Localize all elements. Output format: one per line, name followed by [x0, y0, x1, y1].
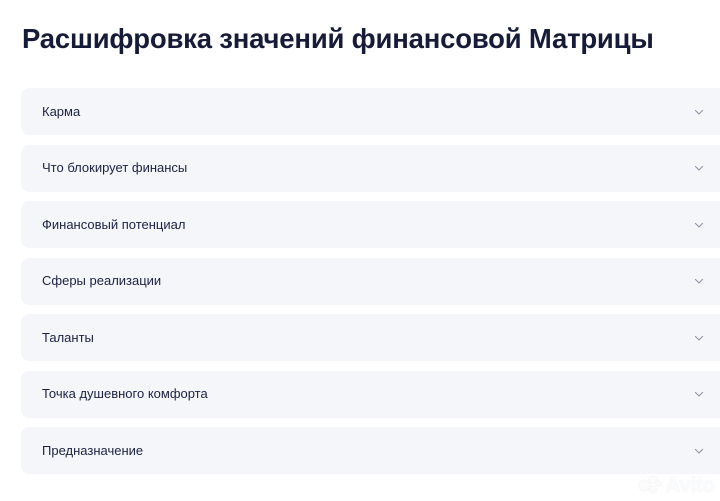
page-root: Расшифровка значений финансовой Матрицы …: [0, 0, 720, 501]
accordion-item-label: Предназначение: [42, 442, 143, 460]
avito-logo-icon: [639, 475, 661, 497]
accordion-item-talents[interactable]: Таланты: [21, 314, 720, 361]
accordion-item-label: Сферы реализации: [42, 272, 161, 290]
accordion-list: Карма Что блокирует финансы Финансовый п…: [21, 88, 720, 474]
page-title: Расшифровка значений финансовой Матрицы: [22, 22, 720, 56]
accordion-item-comfort-point[interactable]: Точка душевного комфорта: [21, 371, 720, 418]
chevron-down-icon: [692, 218, 706, 232]
chevron-down-icon: [692, 274, 706, 288]
accordion-item-label: Точка душевного комфорта: [42, 385, 208, 403]
accordion-item-blockers[interactable]: Что блокирует финансы: [21, 145, 720, 192]
accordion-item-label: Финансовый потенциал: [42, 216, 185, 234]
chevron-down-icon: [692, 387, 706, 401]
avito-watermark-text: Avito: [665, 475, 715, 497]
accordion-item-label: Карма: [42, 103, 80, 121]
chevron-down-icon: [692, 331, 706, 345]
accordion-item-financial-potential[interactable]: Финансовый потенциал: [21, 201, 720, 248]
accordion-item-spheres[interactable]: Сферы реализации: [21, 258, 720, 305]
avito-watermark: Avito: [639, 475, 715, 497]
chevron-down-icon: [692, 161, 706, 175]
accordion-item-purpose[interactable]: Предназначение: [21, 427, 720, 474]
chevron-down-icon: [692, 444, 706, 458]
accordion-item-label: Что блокирует финансы: [42, 159, 187, 177]
accordion-item-karma[interactable]: Карма: [21, 88, 720, 135]
accordion-item-label: Таланты: [42, 329, 94, 347]
chevron-down-icon: [692, 105, 706, 119]
